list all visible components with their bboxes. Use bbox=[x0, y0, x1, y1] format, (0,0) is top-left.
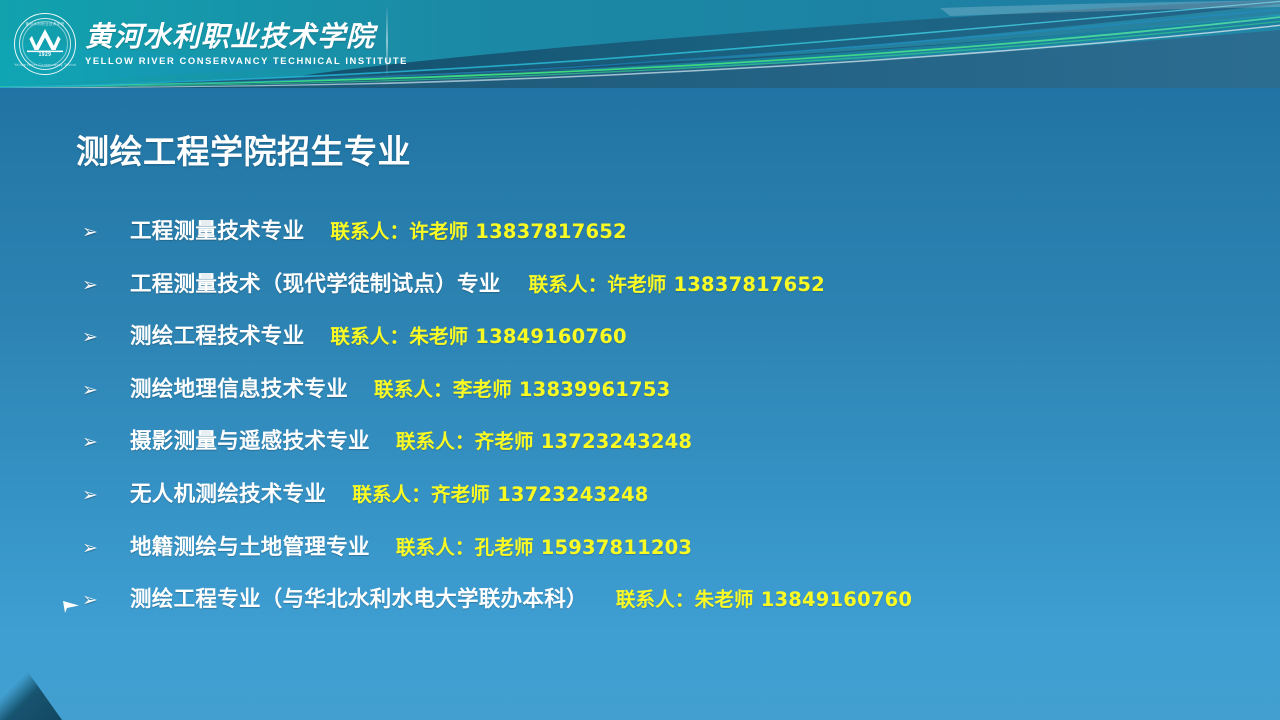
major-contact: 联系人：孔老师 15937811203 bbox=[396, 531, 692, 560]
arrow-bullet-icon: ➢ bbox=[82, 328, 130, 347]
seal-arc-bottom-text: Yellow River Conservancy Technical Insti… bbox=[14, 63, 76, 67]
arrow-bullet-icon: ➢ bbox=[82, 486, 130, 505]
major-contact: 联系人：朱老师 13849160760 bbox=[616, 583, 912, 612]
major-contact: 联系人：朱老师 13849160760 bbox=[330, 320, 626, 349]
university-seal-icon: 黄河水利职业技术学院 1929 Yellow River Conservancy… bbox=[14, 13, 76, 75]
major-name: 测绘工程专业（与华北水利水电大学联办本科） bbox=[130, 582, 588, 613]
list-item[interactable]: ➢ 摄影测量与遥感技术专业 联系人：齐老师 13723243248 bbox=[82, 424, 1262, 477]
major-name: 地籍测绘与土地管理专业 bbox=[130, 530, 370, 561]
institution-logo-block: 黄河水利职业技术学院 1929 Yellow River Conservancy… bbox=[8, 6, 388, 82]
list-item[interactable]: ➢ 地籍测绘与土地管理专业 联系人：孔老师 15937811203 bbox=[82, 530, 1262, 583]
seal-arc-top-text: 黄河水利职业技术学院 bbox=[14, 22, 76, 27]
seal-year: 1929 bbox=[14, 52, 76, 58]
slide-header-banner: 黄河水利职业技术学院 1929 Yellow River Conservancy… bbox=[0, 0, 1280, 88]
arrow-bullet-icon: ➢ bbox=[82, 591, 130, 610]
major-name: 摄影测量与遥感技术专业 bbox=[130, 424, 370, 455]
header-divider bbox=[386, 6, 388, 78]
page-title: 测绘工程学院招生专业 bbox=[76, 125, 411, 173]
list-item[interactable]: ➢ 测绘地理信息技术专业 联系人：李老师 13839961753 bbox=[82, 372, 1262, 425]
arrow-bullet-icon: ➢ bbox=[82, 433, 130, 452]
majors-list: ➢ 工程测量技术专业 联系人：许老师 13837817652 ➢ 工程测量技术（… bbox=[82, 214, 1262, 635]
major-name: 工程测量技术（现代学徒制试点）专业 bbox=[130, 267, 501, 298]
major-name: 无人机测绘技术专业 bbox=[130, 477, 326, 508]
major-name: 测绘工程技术专业 bbox=[130, 319, 304, 350]
major-contact: 联系人：齐老师 13723243248 bbox=[396, 425, 692, 454]
presentation-slide: 黄河水利职业技术学院 1929 Yellow River Conservancy… bbox=[0, 0, 1280, 720]
corner-arrow-icon bbox=[62, 600, 80, 614]
arrow-bullet-icon: ➢ bbox=[82, 539, 130, 558]
corner-decoration bbox=[0, 608, 86, 720]
list-item[interactable]: ➢ 测绘工程技术专业 联系人：朱老师 13849160760 bbox=[82, 319, 1262, 372]
list-item[interactable]: ➢ 测绘工程专业（与华北水利水电大学联办本科） 联系人：朱老师 13849160… bbox=[82, 582, 1262, 635]
list-item[interactable]: ➢ 工程测量技术（现代学徒制试点）专业 联系人：许老师 13837817652 bbox=[82, 267, 1262, 320]
major-contact: 联系人：齐老师 13723243248 bbox=[352, 478, 648, 507]
arrow-bullet-icon: ➢ bbox=[82, 276, 130, 295]
seal-mountain-icon bbox=[25, 28, 65, 54]
major-contact: 联系人：李老师 13839961753 bbox=[374, 373, 670, 402]
arrow-bullet-icon: ➢ bbox=[82, 223, 130, 242]
arrow-bullet-icon: ➢ bbox=[82, 381, 130, 400]
major-name: 测绘地理信息技术专业 bbox=[130, 372, 348, 403]
list-item[interactable]: ➢ 无人机测绘技术专业 联系人：齐老师 13723243248 bbox=[82, 477, 1262, 530]
list-item[interactable]: ➢ 工程测量技术专业 联系人：许老师 13837817652 bbox=[82, 214, 1262, 267]
institution-name-cn: 黄河水利职业技术学院 bbox=[85, 22, 408, 52]
institution-name-en: YELLOW RIVER CONSERVANCY TECHNICAL INSTI… bbox=[85, 55, 408, 66]
major-contact: 联系人：许老师 13837817652 bbox=[529, 268, 825, 297]
major-name: 工程测量技术专业 bbox=[130, 214, 304, 245]
major-contact: 联系人：许老师 13837817652 bbox=[330, 215, 626, 244]
